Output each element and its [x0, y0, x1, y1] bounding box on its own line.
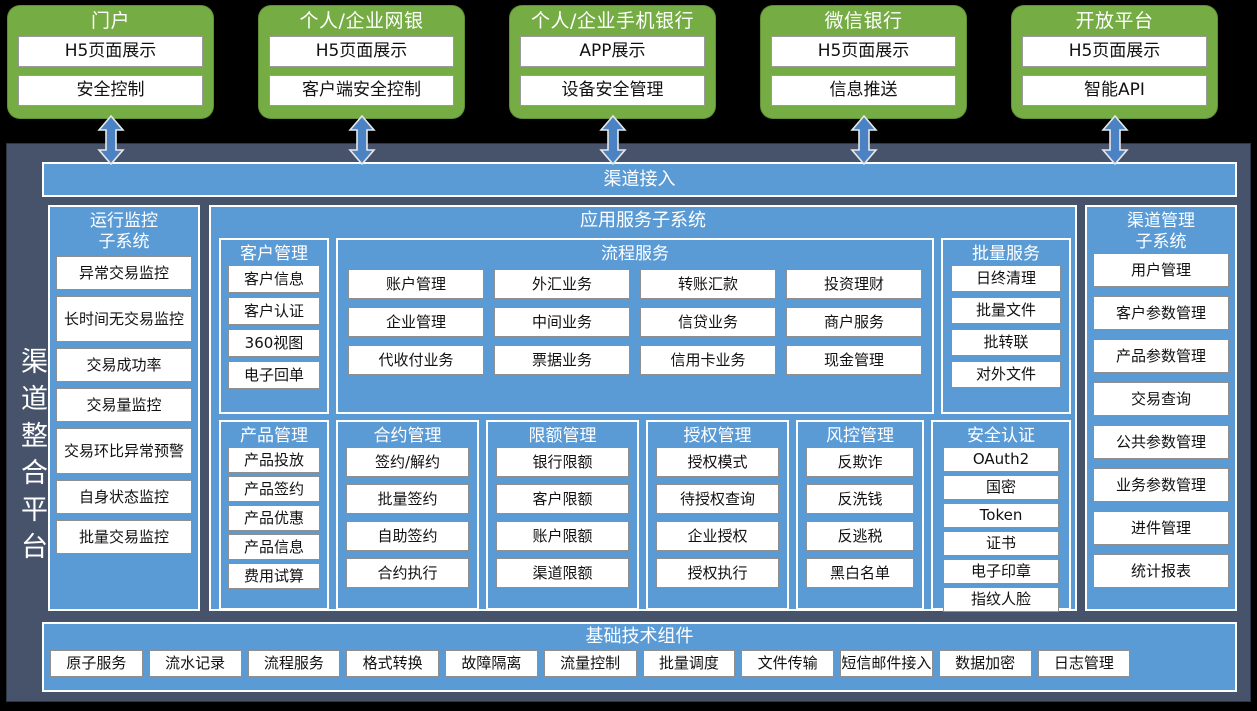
- process-service-group: 流程服务 账户管理 外汇业务 转账汇款 投资理财 企业管理 中间业务 信贷业务 …: [336, 238, 934, 414]
- module-cell[interactable]: 账户限额: [496, 521, 629, 551]
- module-cell[interactable]: 原子服务: [50, 650, 143, 677]
- channel-card-item[interactable]: 智能API: [1022, 75, 1207, 106]
- module-cell[interactable]: 代收付业务: [348, 345, 484, 375]
- module-cell[interactable]: 产品信息: [228, 534, 320, 560]
- channel-management-subsystem: 渠道管理 子系统 用户管理 客户参数管理 产品参数管理 交易查询 公共参数管理 …: [1085, 205, 1237, 611]
- group-title: 客户管理: [221, 240, 327, 265]
- module-cell[interactable]: 现金管理: [786, 345, 922, 375]
- module-cell[interactable]: 批量交易监控: [56, 520, 192, 554]
- module-cell[interactable]: 合约执行: [346, 558, 469, 588]
- channel-card-item[interactable]: H5页面展示: [1022, 36, 1207, 67]
- module-cell[interactable]: 商户服务: [786, 307, 922, 337]
- channel-card-item[interactable]: H5页面展示: [771, 36, 956, 67]
- group-title: 合约管理: [338, 422, 477, 447]
- channel-card-title: 微信银行: [761, 6, 966, 36]
- channel-card-item[interactable]: 设备安全管理: [520, 75, 705, 106]
- module-cell[interactable]: 长时间无交易监控: [56, 296, 192, 342]
- module-cell[interactable]: 客户信息: [228, 265, 320, 293]
- channel-card-title: 开放平台: [1012, 6, 1217, 36]
- module-cell[interactable]: OAuth2: [943, 447, 1059, 472]
- application-service-subsystem: 应用服务子系统 客户管理 客户信息 客户认证 360视图 电子回单 流程服务 账…: [209, 205, 1077, 611]
- module-cell[interactable]: 中间业务: [494, 307, 630, 337]
- subsystem-title: 运行监控 子系统: [50, 207, 198, 253]
- channel-card-internet-banking[interactable]: 个人/企业网银 H5页面展示 客户端安全控制: [259, 6, 464, 118]
- group-title: 限额管理: [488, 422, 637, 447]
- module-cell[interactable]: 费用试算: [228, 563, 320, 589]
- connector-arrow-icon: [849, 115, 879, 165]
- product-management-group: 产品管理 产品投放 产品签约 产品优惠 产品信息 费用试算: [219, 420, 329, 610]
- module-cell[interactable]: 反逃税: [806, 521, 914, 551]
- group-title: 安全认证: [933, 422, 1069, 447]
- module-cell[interactable]: Token: [943, 503, 1059, 528]
- module-cell[interactable]: 流水记录: [149, 650, 242, 677]
- module-cell[interactable]: 产品参数管理: [1093, 339, 1229, 373]
- module-cell[interactable]: 客户限额: [496, 484, 629, 514]
- module-cell[interactable]: 交易量监控: [56, 388, 192, 422]
- module-cell[interactable]: 投资理财: [786, 269, 922, 299]
- tech-components-grid: 原子服务 流水记录 流程服务 格式转换 故障隔离 流量控制 批量调度 文件传输 …: [44, 647, 1235, 677]
- connector-arrow-icon: [598, 115, 628, 165]
- module-cell[interactable]: 交易成功率: [56, 348, 192, 382]
- group-title: 批量服务: [943, 240, 1069, 265]
- customer-management-group: 客户管理 客户信息 客户认证 360视图 电子回单: [219, 238, 329, 414]
- module-cell[interactable]: 银行限额: [496, 447, 629, 477]
- module-cell[interactable]: 反欺诈: [806, 447, 914, 477]
- module-cell[interactable]: 交易查询: [1093, 382, 1229, 416]
- channel-card-item[interactable]: APP展示: [520, 36, 705, 67]
- module-cell[interactable]: 电子回单: [228, 361, 320, 389]
- module-cell[interactable]: 短信邮件接入: [840, 650, 933, 677]
- subsystem-title: 渠道管理 子系统: [1087, 207, 1235, 253]
- module-cell[interactable]: 转账汇款: [640, 269, 776, 299]
- module-cell[interactable]: 反洗钱: [806, 484, 914, 514]
- module-cell[interactable]: 批量签约: [346, 484, 469, 514]
- module-cell[interactable]: 信用卡业务: [640, 345, 776, 375]
- module-cell[interactable]: 批量文件: [951, 297, 1061, 324]
- module-cell[interactable]: 电子印章: [943, 559, 1059, 584]
- module-cell[interactable]: 产品签约: [228, 476, 320, 502]
- connector-arrow-icon: [96, 115, 126, 165]
- module-cell[interactable]: 企业授权: [656, 521, 779, 551]
- module-cell[interactable]: 格式转换: [346, 650, 439, 677]
- process-service-grid: 账户管理 外汇业务 转账汇款 投资理财 企业管理 中间业务 信贷业务 商户服务 …: [338, 265, 932, 375]
- batch-service-group: 批量服务 日终清理 批量文件 批转联 对外文件: [941, 238, 1071, 414]
- limit-management-group: 限额管理 银行限额 客户限额 账户限额 渠道限额: [486, 420, 639, 610]
- module-cell[interactable]: 黑白名单: [806, 558, 914, 588]
- module-cell[interactable]: 自身状态监控: [56, 480, 192, 514]
- module-cell[interactable]: 授权执行: [656, 558, 779, 588]
- module-cell[interactable]: 360视图: [228, 329, 320, 357]
- module-cell[interactable]: 日志管理: [1038, 650, 1131, 677]
- module-cell[interactable]: 故障隔离: [445, 650, 538, 677]
- module-cell[interactable]: 流量控制: [544, 650, 637, 677]
- risk-management-group: 风控管理 反欺诈 反洗钱 反逃税 黑白名单: [796, 420, 924, 610]
- module-cell[interactable]: 产品投放: [228, 447, 320, 473]
- module-cell[interactable]: 企业管理: [348, 307, 484, 337]
- basic-technology-components: 基础技术组件 原子服务 流水记录 流程服务 格式转换 故障隔离 流量控制 批量调…: [42, 622, 1237, 692]
- module-cell[interactable]: 公共参数管理: [1093, 425, 1229, 459]
- module-cell[interactable]: 用户管理: [1093, 253, 1229, 287]
- module-cell[interactable]: 票据业务: [494, 345, 630, 375]
- module-cell[interactable]: 数据加密: [939, 650, 1032, 677]
- authorization-management-group: 授权管理 授权模式 待授权查询 企业授权 授权执行: [646, 420, 789, 610]
- module-cell[interactable]: 进件管理: [1093, 511, 1229, 545]
- module-cell[interactable]: 批转联: [951, 329, 1061, 356]
- group-title: 风控管理: [798, 422, 922, 447]
- section-title: 基础技术组件: [44, 624, 1235, 647]
- module-cell[interactable]: 渠道限额: [496, 558, 629, 588]
- module-cell[interactable]: 国密: [943, 475, 1059, 500]
- channel-card-wechat-banking[interactable]: 微信银行 H5页面展示 信息推送: [761, 6, 966, 118]
- channel-card-open-platform[interactable]: 开放平台 H5页面展示 智能API: [1012, 6, 1217, 118]
- module-cell[interactable]: 外汇业务: [494, 269, 630, 299]
- channel-card-item[interactable]: H5页面展示: [269, 36, 454, 67]
- subsystem-title-line1: 运行监控: [50, 211, 198, 232]
- module-cell[interactable]: 交易环比异常预警: [56, 428, 192, 474]
- module-cell[interactable]: 业务参数管理: [1093, 468, 1229, 502]
- channel-card-item[interactable]: H5页面展示: [18, 36, 203, 67]
- security-authentication-group: 安全认证 OAuth2 国密 Token 证书 电子印章 指纹人脸: [931, 420, 1071, 610]
- module-cell[interactable]: 信贷业务: [640, 307, 776, 337]
- module-cell[interactable]: 客户认证: [228, 297, 320, 325]
- channel-card-title: 个人/企业网银: [259, 6, 464, 36]
- module-cell[interactable]: 授权模式: [656, 447, 779, 477]
- connector-arrow-icon: [347, 115, 377, 165]
- module-cell[interactable]: 证书: [943, 531, 1059, 556]
- run-monitoring-subsystem: 运行监控 子系统 异常交易监控 长时间无交易监控 交易成功率 交易量监控 交易环…: [48, 205, 200, 611]
- group-title: 授权管理: [648, 422, 787, 447]
- channel-card-item[interactable]: 安全控制: [18, 75, 203, 106]
- channel-card-item[interactable]: 客户端安全控制: [269, 75, 454, 106]
- module-cell[interactable]: 待授权查询: [656, 484, 779, 514]
- module-cell[interactable]: 文件传输: [741, 650, 834, 677]
- contract-management-group: 合约管理 签约/解约 批量签约 自助签约 合约执行: [336, 420, 479, 610]
- module-cell[interactable]: 产品优惠: [228, 505, 320, 531]
- subsystem-title-line2: 子系统: [1087, 232, 1235, 253]
- subsystem-title-line1: 渠道管理: [1087, 211, 1235, 232]
- module-cell[interactable]: 日终清理: [951, 265, 1061, 292]
- subsystem-title-line2: 子系统: [50, 232, 198, 253]
- module-cell[interactable]: 自助签约: [346, 521, 469, 551]
- module-cell[interactable]: 账户管理: [348, 269, 484, 299]
- module-cell[interactable]: 统计报表: [1093, 554, 1229, 588]
- subsystem-title: 应用服务子系统: [211, 207, 1075, 231]
- module-cell[interactable]: 异常交易监控: [56, 256, 192, 290]
- module-cell[interactable]: 客户参数管理: [1093, 296, 1229, 330]
- channel-card-mobile-banking[interactable]: 个人/企业手机银行 APP展示 设备安全管理: [510, 6, 715, 118]
- channel-card-title: 个人/企业手机银行: [510, 6, 715, 36]
- channel-card-item[interactable]: 信息推送: [771, 75, 956, 106]
- channel-card-portal[interactable]: 门户 H5页面展示 安全控制: [8, 6, 213, 118]
- architecture-diagram: 门户 H5页面展示 安全控制 个人/企业网银 H5页面展示 客户端安全控制 个人…: [0, 0, 1257, 711]
- module-cell[interactable]: 流程服务: [248, 650, 341, 677]
- group-title: 产品管理: [221, 422, 327, 447]
- connector-arrow-icon: [1100, 115, 1130, 165]
- module-cell[interactable]: 指纹人脸: [943, 587, 1059, 612]
- channel-card-title: 门户: [8, 6, 213, 36]
- channel-access-bar[interactable]: 渠道接入: [42, 162, 1237, 197]
- module-cell[interactable]: 对外文件: [951, 361, 1061, 388]
- group-title: 流程服务: [338, 240, 932, 265]
- module-cell[interactable]: 批量调度: [643, 650, 736, 677]
- module-cell[interactable]: 签约/解约: [346, 447, 469, 477]
